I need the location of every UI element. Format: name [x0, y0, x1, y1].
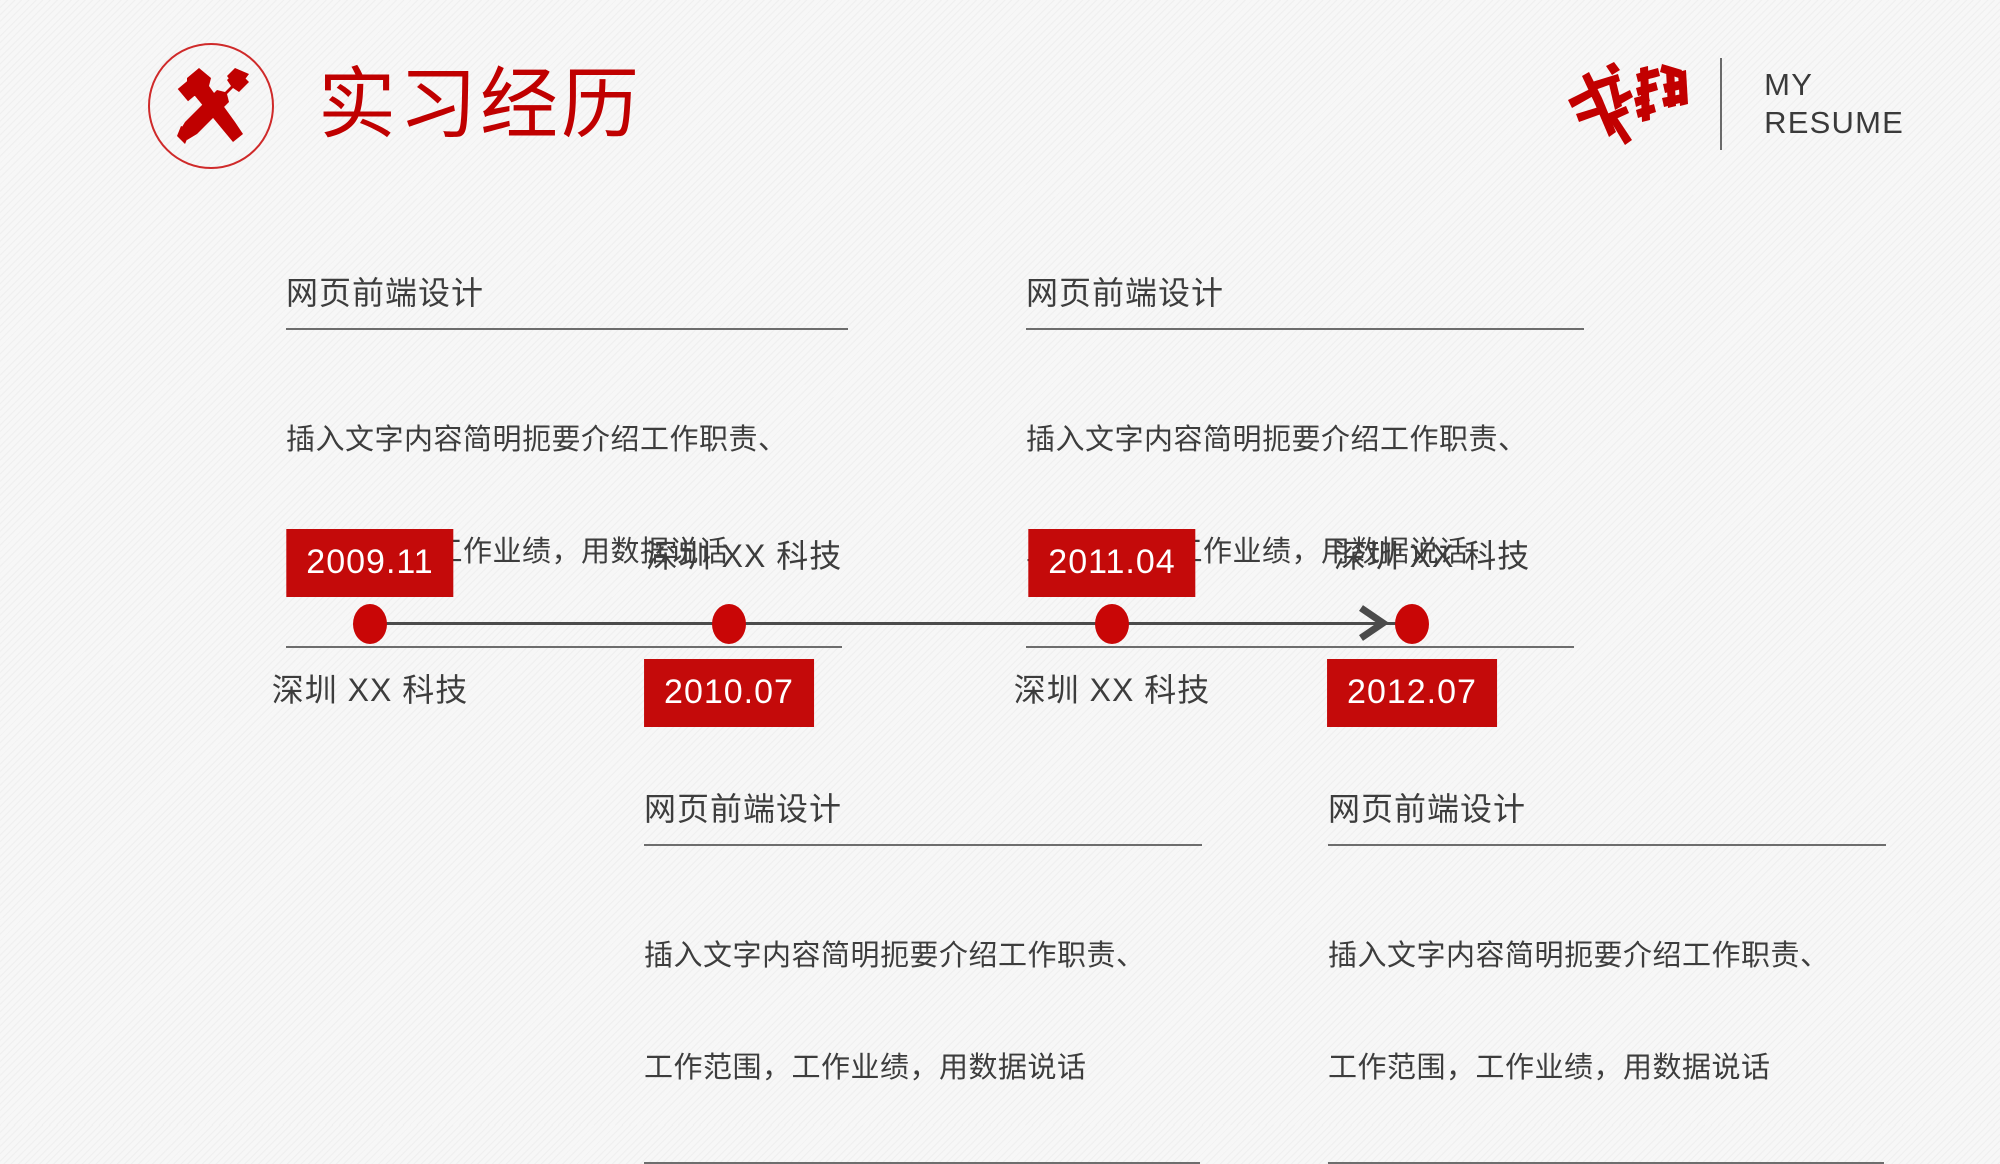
- slide-canvas: 实习经历: [0, 0, 2000, 1125]
- slide-header: 实习经历: [0, 0, 2000, 200]
- card-body: 插入文字内容简明扼要介绍工作职责、 工作范围，工作业绩，用数据说话: [1328, 846, 1890, 1162]
- timeline-date-badge[interactable]: 2009.11: [286, 529, 453, 597]
- card-title: 网页前端设计: [1026, 272, 1588, 328]
- card-body-line-1: 插入文字内容简明扼要介绍工作职责、: [644, 928, 1206, 984]
- brand-text: MY RESUME: [1764, 66, 1904, 142]
- brand-lockup: MY RESUME: [1562, 54, 1904, 154]
- card-body-line-1: 插入文字内容简明扼要介绍工作职责、: [286, 412, 848, 468]
- card-body: 插入文字内容简明扼要介绍工作职责、 工作范围，工作业绩，用数据说话: [644, 846, 1206, 1162]
- timeline-dot[interactable]: [1095, 604, 1129, 644]
- timeline-date-badge[interactable]: 2012.07: [1327, 659, 1497, 727]
- card-title: 网页前端设计: [1328, 788, 1890, 844]
- experience-card-bottom-right: 网页前端设计 插入文字内容简明扼要介绍工作职责、 工作范围，工作业绩，用数据说话: [1328, 788, 1890, 1164]
- timeline-dot[interactable]: [353, 604, 387, 644]
- hammer-wrench-icon: [148, 43, 274, 169]
- brand-line-2: RESUME: [1764, 104, 1904, 142]
- timeline: 2009.11 深圳 XX 科技 深圳 XX 科技 2010.07 2011.0…: [0, 500, 2000, 740]
- timeline-company-label: 深圳 XX 科技: [1014, 672, 1210, 708]
- card-title: 网页前端设计: [644, 788, 1206, 844]
- brand-line-1: MY: [1764, 66, 1904, 104]
- timeline-date-badge[interactable]: 2010.07: [644, 659, 814, 727]
- card-body-line-1: 插入文字内容简明扼要介绍工作职责、: [1026, 412, 1588, 468]
- timeline-date-badge[interactable]: 2011.04: [1028, 529, 1195, 597]
- timeline-company-label: 深圳 XX 科技: [646, 538, 842, 574]
- card-body-line-1: 插入文字内容简明扼要介绍工作职责、: [1328, 928, 1890, 984]
- experience-card-bottom-left: 网页前端设计 插入文字内容简明扼要介绍工作职责、 工作范围，工作业绩，用数据说话: [644, 788, 1206, 1164]
- card-title: 网页前端设计: [286, 272, 848, 328]
- timeline-dot[interactable]: [712, 604, 746, 644]
- brand-divider: [1720, 58, 1722, 150]
- timeline-dot[interactable]: [1395, 604, 1429, 644]
- timeline-axis: [370, 622, 1412, 625]
- brand-calligraphy-mark: [1562, 54, 1690, 154]
- card-body-line-2: 工作范围，工作业绩，用数据说话: [1328, 1040, 1890, 1096]
- page-title: 实习经历: [318, 56, 642, 152]
- timeline-company-label: 深圳 XX 科技: [1334, 538, 1530, 574]
- card-body-line-2: 工作范围，工作业绩，用数据说话: [644, 1040, 1206, 1096]
- timeline-company-label: 深圳 XX 科技: [272, 672, 468, 708]
